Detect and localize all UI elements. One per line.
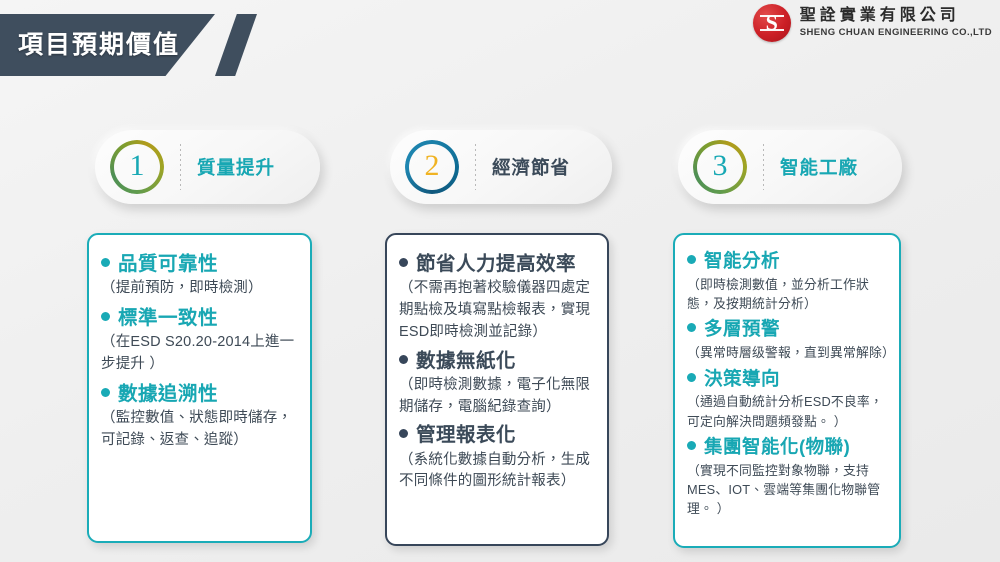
- company-seal-icon: [753, 4, 791, 42]
- bullet-dot-icon: [399, 355, 408, 364]
- bullet-dot-icon: [687, 373, 696, 382]
- item-title: 數據無紙化: [416, 348, 516, 374]
- benefit-card-1: 品質可靠性 （提前預防，即時檢測） 標準一致性 （在ESD S20.20-201…: [87, 233, 312, 543]
- pill-divider-2: [475, 144, 476, 190]
- bullet-dot-icon: [101, 258, 110, 267]
- bullet-dot-icon: [101, 312, 110, 321]
- item-description: （系統化數據自動分析，生成不同條件的圖形統計報表）: [399, 450, 595, 494]
- slide-title-banner: 項目預期價值: [0, 14, 300, 76]
- list-item: 集團智能化(物聯) （實現不同監控對象物聯，支持MES、IOT、雲端等集團化物聯…: [687, 435, 889, 519]
- benefit-card-3: 智能分析 （即時檢測數值，並分析工作狀態，及按期統計分析） 多層預警 （異常時層…: [673, 233, 901, 548]
- bullet-dot-icon: [101, 388, 110, 397]
- bullet-dot-icon: [687, 255, 696, 264]
- item-description: （實現不同監控對象物聯，支持MES、IOT、雲端等集團化物聯管理。 ）: [687, 461, 889, 519]
- item-title: 標準一致性: [118, 305, 218, 331]
- section-pill-3[interactable]: 3 智能工廠: [678, 130, 902, 204]
- bullet-dot-icon: [687, 441, 696, 450]
- item-title: 決策導向: [704, 367, 780, 392]
- item-description: （在ESD S20.20-2014上進一步提升 ）: [101, 332, 298, 376]
- list-item: 品質可靠性 （提前預防，即時檢測）: [101, 251, 298, 300]
- item-description: （異常時層级警報，直到異常解除）: [687, 343, 889, 362]
- item-title: 數據追溯性: [118, 381, 218, 407]
- item-title: 集團智能化(物聯): [704, 435, 850, 460]
- list-item: 數據追溯性 （監控數值、狀態即時儲存，可記錄、返查、追蹤）: [101, 381, 298, 452]
- list-item: 標準一致性 （在ESD S20.20-2014上進一步提升 ）: [101, 305, 298, 376]
- list-item: 管理報表化 （系統化數據自動分析，生成不同條件的圖形統計報表）: [399, 422, 595, 493]
- list-item: 節省人力提高效率 （不需再抱著校驗儀器四處定期點檢及填寫點檢報表，實現ESD即時…: [399, 251, 595, 344]
- benefit-card-2: 節省人力提高效率 （不需再抱著校驗儀器四處定期點檢及填寫點檢報表，實現ESD即時…: [385, 233, 609, 546]
- item-description: （監控數值、狀態即時儲存，可記錄、返查、追蹤）: [101, 408, 298, 452]
- bullet-dot-icon: [399, 429, 408, 438]
- section-pill-1[interactable]: 1 質量提升: [95, 130, 320, 204]
- bullet-dot-icon: [399, 258, 408, 267]
- section-title-3: 智能工廠: [780, 154, 858, 180]
- item-description: （即時檢測數據，電子化無限期儲存，電腦紀錄查詢）: [399, 375, 595, 419]
- company-logo: 聖詮實業有限公司 SHENG CHUAN ENGINEERING CO.,LTD: [753, 4, 992, 42]
- list-item: 智能分析 （即時檢測數值，並分析工作狀態，及按期統計分析）: [687, 249, 889, 313]
- section-pill-2[interactable]: 2 經濟節省: [390, 130, 612, 204]
- company-name-cn: 聖詮實業有限公司: [800, 8, 992, 25]
- list-item: 多層預警 （異常時層级警報，直到異常解除）: [687, 317, 889, 362]
- item-description: （即時檢測數值，並分析工作狀態，及按期統計分析）: [687, 275, 889, 313]
- list-item: 數據無紙化 （即時檢測數據，電子化無限期儲存，電腦紀錄查詢）: [399, 348, 595, 419]
- title-slash-accent-icon: [215, 14, 257, 76]
- page-title: 項目預期價值: [18, 14, 180, 76]
- step-number-ring-3: 3: [693, 140, 747, 194]
- item-title: 管理報表化: [416, 422, 516, 448]
- company-name-en: SHENG CHUAN ENGINEERING CO.,LTD: [800, 28, 992, 38]
- section-title-2: 經濟節省: [492, 154, 570, 180]
- item-description: （提前預防，即時檢測）: [101, 278, 298, 300]
- item-description: （不需再抱著校驗儀器四處定期點檢及填寫點檢報表，實現ESD即時檢測並記錄）: [399, 278, 595, 343]
- item-title: 品質可靠性: [118, 251, 218, 277]
- company-name-block: 聖詮實業有限公司 SHENG CHUAN ENGINEERING CO.,LTD: [800, 8, 992, 38]
- pill-divider-3: [763, 144, 764, 190]
- section-title-1: 質量提升: [197, 154, 275, 180]
- step-number-ring-2: 2: [405, 140, 459, 194]
- item-title: 智能分析: [704, 249, 780, 274]
- bullet-dot-icon: [687, 323, 696, 332]
- item-title: 節省人力提高效率: [416, 251, 576, 277]
- item-title: 多層預警: [704, 317, 780, 342]
- step-number-ring-1: 1: [110, 140, 164, 194]
- slide-canvas: 項目預期價值 聖詮實業有限公司 SHENG CHUAN ENGINEERING …: [0, 0, 1000, 562]
- item-description: （通過自動統計分析ESD不良率，可定向解決問題頻發點。 ）: [687, 392, 889, 430]
- step-number-3: 3: [713, 151, 728, 181]
- list-item: 決策導向 （通過自動統計分析ESD不良率，可定向解決問題頻發點。 ）: [687, 367, 889, 431]
- step-number-2: 2: [425, 151, 440, 181]
- step-number-1: 1: [130, 151, 145, 181]
- pill-divider-1: [180, 144, 181, 190]
